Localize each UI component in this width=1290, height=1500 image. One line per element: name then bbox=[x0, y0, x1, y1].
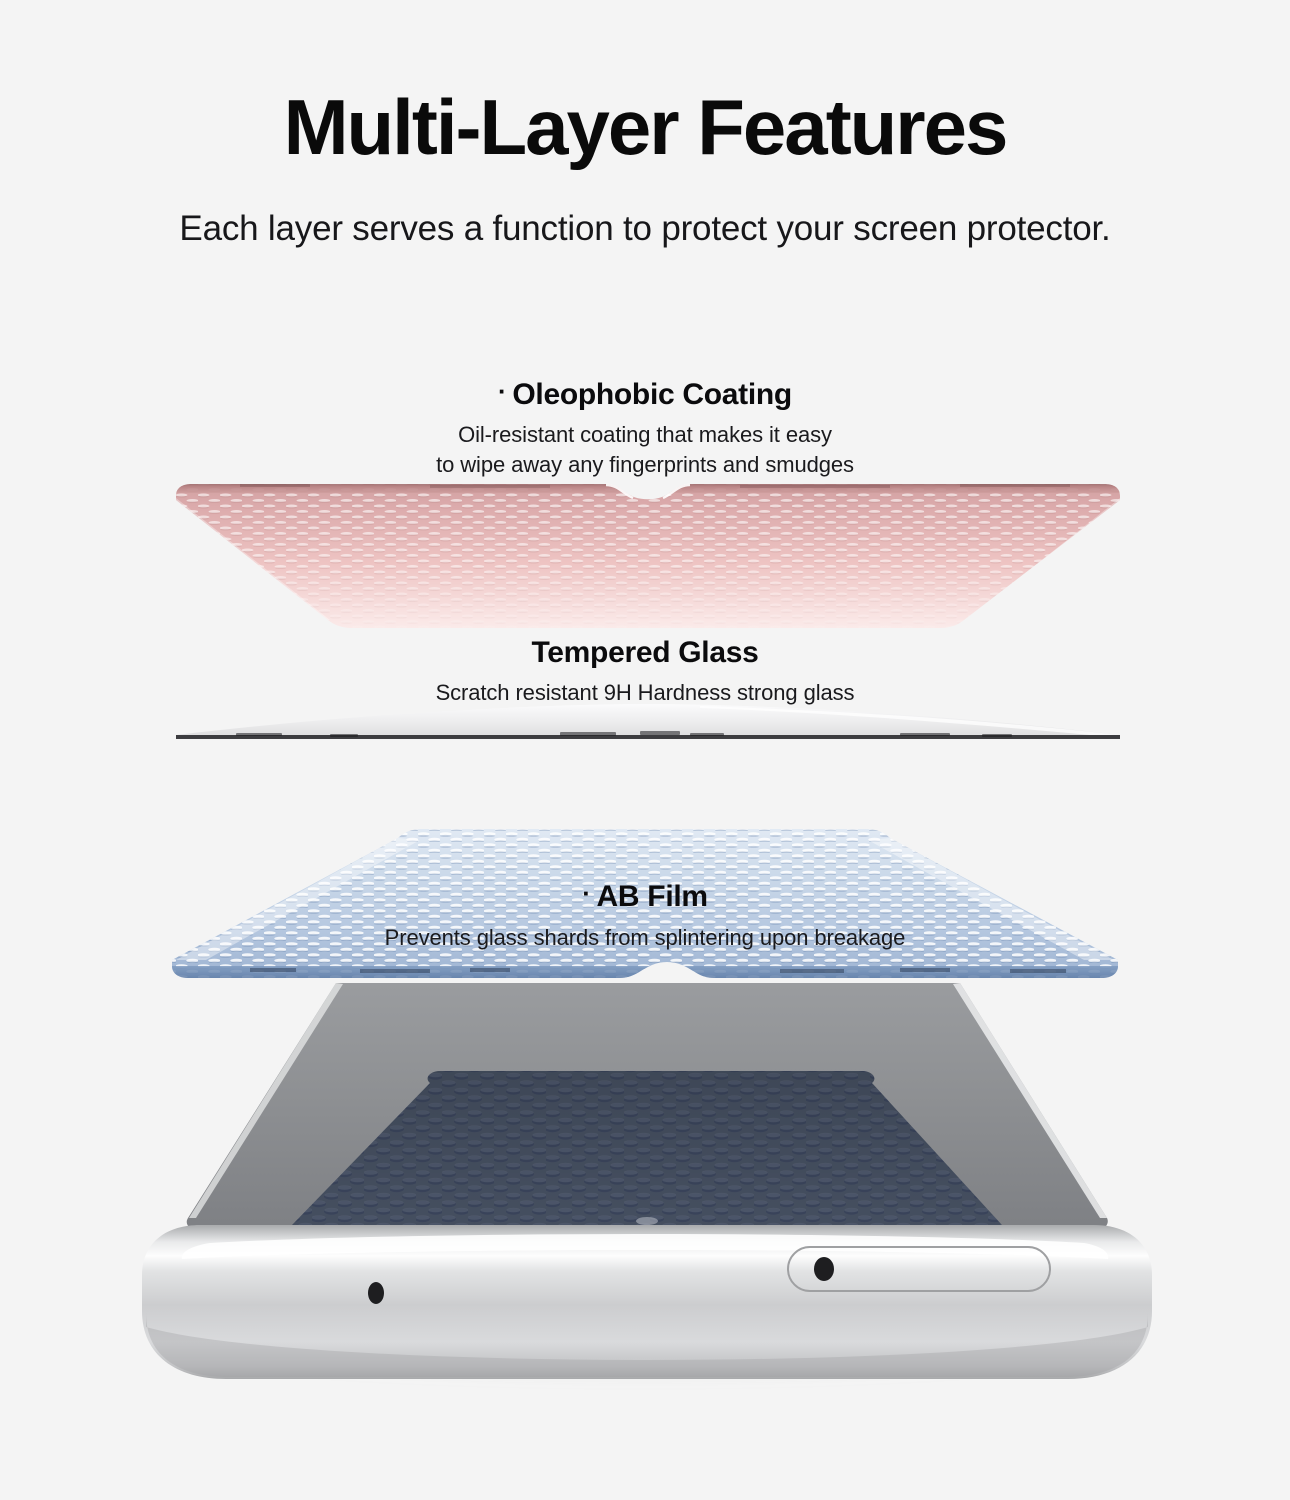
sensor-dot-icon bbox=[636, 1217, 658, 1225]
page-subtitle: Each layer serves a function to protect … bbox=[0, 166, 1290, 246]
layer-label-tempered-glass: Tempered Glass Scratch resistant 9H Hard… bbox=[0, 636, 1290, 708]
layer-title-ab-film: ·AB Film bbox=[0, 880, 1290, 915]
layer-title-text: Tempered Glass bbox=[531, 636, 758, 669]
microphone-hole-icon bbox=[368, 1282, 384, 1304]
layer-label-oleophobic-coating: ·Oleophobic Coating Oil-resistant coatin… bbox=[0, 378, 1290, 480]
layer-desc-oleophobic: Oil-resistant coating that makes it easy… bbox=[0, 420, 1290, 481]
layer-label-ab-film: ·AB Film Prevents glass shards from spli… bbox=[0, 880, 1290, 953]
oleophobic-coating-sheet bbox=[0, 470, 1290, 640]
layer-title-tempered-glass: Tempered Glass bbox=[0, 636, 1290, 671]
glass-edge-line bbox=[176, 735, 1120, 739]
layer-desc-line-1: Scratch resistant 9H Hardness strong gla… bbox=[0, 678, 1290, 708]
smartphone-device bbox=[0, 975, 1290, 1395]
layer-desc-line-1: Prevents glass shards from splintering u… bbox=[0, 923, 1290, 953]
layer-desc-ab-film: Prevents glass shards from splintering u… bbox=[0, 923, 1290, 953]
bullet-dot-icon: · bbox=[498, 376, 506, 406]
pink-sheet-graphic bbox=[0, 470, 1290, 640]
header: Multi-Layer Features Each layer serves a… bbox=[0, 0, 1290, 246]
layer-desc-line-2: to wipe away any fingerprints and smudge… bbox=[0, 450, 1290, 480]
page-title: Multi-Layer Features bbox=[0, 0, 1290, 166]
layer-title-text: Oleophobic Coating bbox=[512, 378, 792, 411]
bullet-dot-icon: · bbox=[582, 878, 590, 908]
layer-title-oleophobic: ·Oleophobic Coating bbox=[0, 378, 1290, 413]
layer-title-text: AB Film bbox=[597, 880, 708, 913]
layer-desc-tempered-glass: Scratch resistant 9H Hardness strong gla… bbox=[0, 678, 1290, 708]
infographic-canvas: Multi-Layer Features Each layer serves a… bbox=[0, 0, 1290, 1500]
layer-desc-line-1: Oil-resistant coating that makes it easy bbox=[0, 420, 1290, 450]
phone-bottom-bezel bbox=[142, 1225, 1152, 1379]
phone-graphic bbox=[0, 975, 1290, 1395]
